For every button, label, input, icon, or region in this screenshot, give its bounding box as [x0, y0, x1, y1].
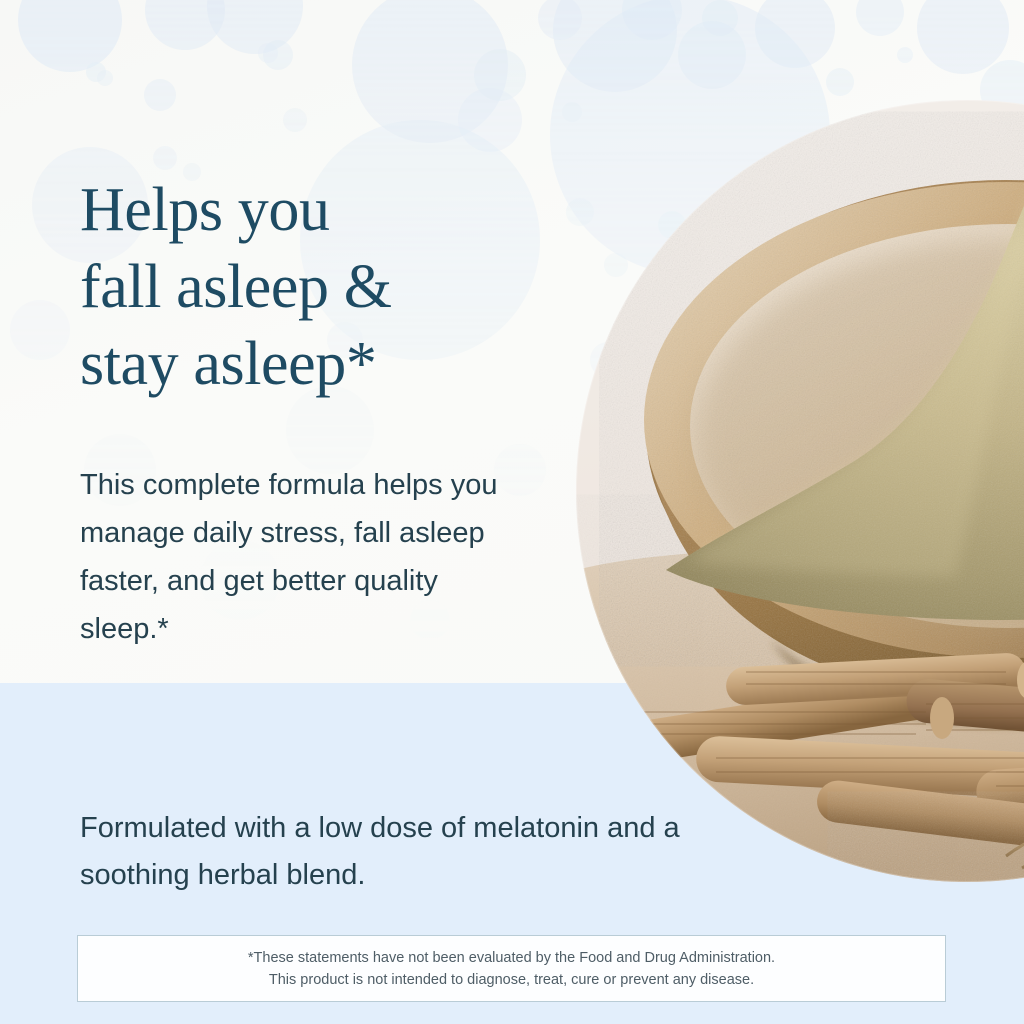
headline-line-2: fall asleep &	[80, 249, 550, 326]
disclaimer-line-2: This product is not intended to diagnose…	[269, 969, 754, 991]
headline-line-3: stay asleep*	[80, 326, 550, 403]
disclaimer-line-1: *These statements have not been evaluate…	[248, 947, 775, 969]
headline-line-1: Helps you	[80, 172, 550, 249]
headline: Helps you fall asleep & stay asleep*	[80, 172, 550, 403]
band-copy-paragraph: Formulated with a low dose of melatonin …	[80, 805, 680, 899]
subcopy-paragraph: This complete formula helps you manage d…	[80, 461, 530, 653]
disclaimer-box: *These statements have not been evaluate…	[77, 935, 946, 1002]
product-marketing-tile: Helps you fall asleep & stay asleep* Thi…	[0, 0, 1024, 1024]
